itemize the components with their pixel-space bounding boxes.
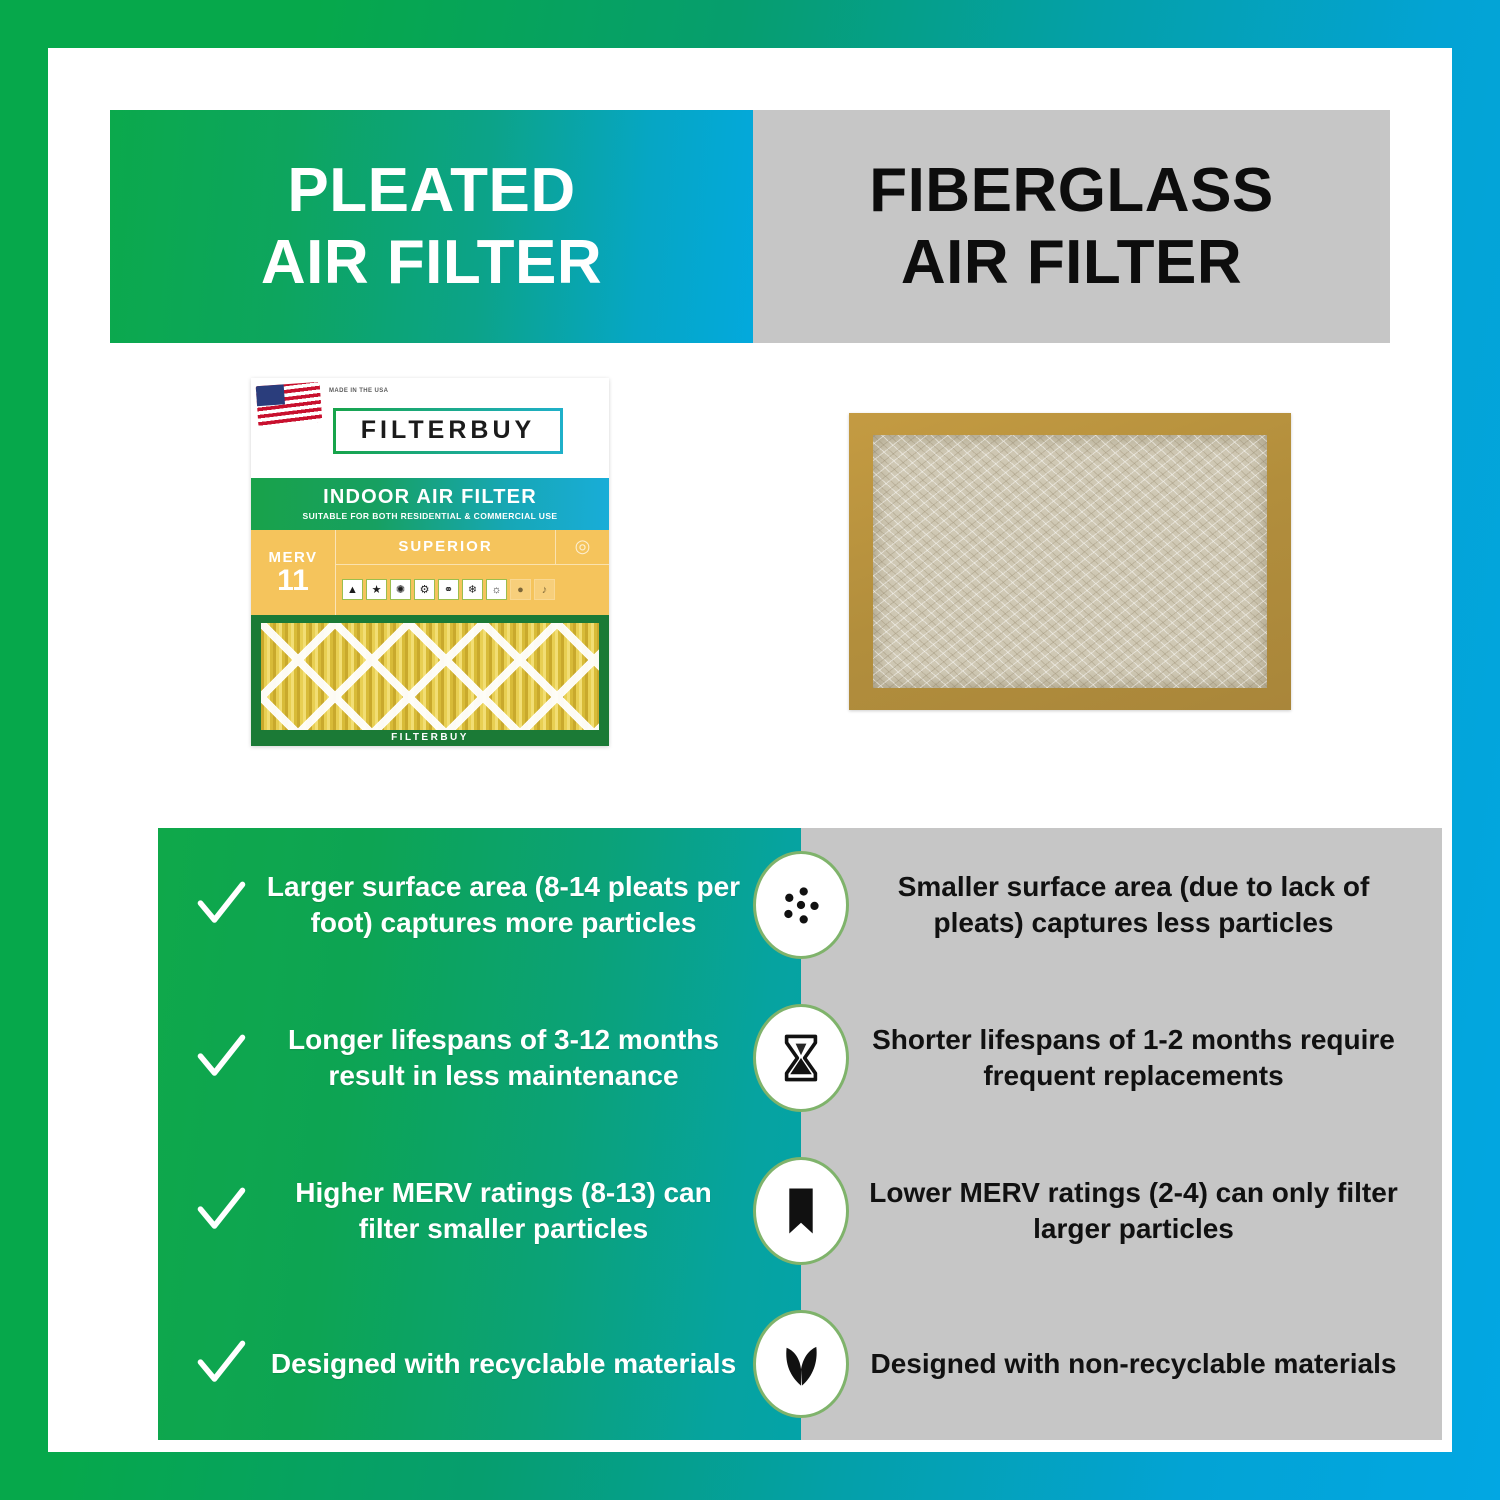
row-4-right: Designed with non-recyclable materials [801, 1287, 1442, 1440]
dust-icon: ▲ [342, 579, 363, 600]
particles-icon [753, 851, 849, 959]
mold-spores-icon: ⚙ [414, 579, 435, 600]
merv-details: SUPERIOR ◎ ▲ ★ ✺ ⚙ ⚭ ❄ ☼ ● ♪ [336, 530, 609, 615]
row-4-right-text: Designed with non-recyclable materials [871, 1346, 1397, 1381]
row-1-left-text: Larger surface area (8-14 pleats per foo… [262, 869, 745, 940]
dust-mites-icon: ★ [366, 579, 387, 600]
product-images-strip: MADE IN THE USA FILTERBUY INDOOR AIR FIL… [110, 343, 1390, 780]
header-pleated-title: PLEATED AIR FILTER [261, 155, 602, 299]
comparison-panel: Larger surface area (8-14 pleats per foo… [158, 828, 1442, 1440]
filterbuy-logo: FILTERBUY [333, 408, 563, 454]
pleated-product-cell: MADE IN THE USA FILTERBUY INDOOR AIR FIL… [110, 343, 750, 780]
row-1-right-text: Smaller surface area (due to lack of ple… [865, 869, 1402, 940]
pleated-media-area: FILTERBUY [251, 615, 609, 746]
comparison-row: Higher MERV ratings (8-13) can filter sm… [158, 1134, 1442, 1287]
row-3-right-text: Lower MERV ratings (2-4) can only filter… [865, 1175, 1402, 1246]
indoor-air-filter-title: INDOOR AIR FILTER [323, 486, 537, 509]
pet-dander-icon: ❄ [462, 579, 483, 600]
row-1-right: Smaller surface area (due to lack of ple… [801, 828, 1442, 981]
row-3-right: Lower MERV ratings (2-4) can only filter… [801, 1134, 1442, 1287]
merv-value: 11 [277, 566, 309, 596]
checkmark-icon [190, 1180, 252, 1242]
pleat-texture [261, 623, 599, 730]
header-pleated-line1: PLEATED [261, 155, 602, 227]
pleated-footer-brand: FILTERBUY [251, 732, 609, 746]
smoke-icon: ☼ [486, 579, 507, 600]
row-3-left: Higher MERV ratings (8-13) can filter sm… [158, 1134, 801, 1287]
infographic-frame: PLEATED AIR FILTER FIBERGLASS AIR FILTER… [48, 48, 1452, 1452]
hourglass-icon [753, 1004, 849, 1112]
checkmark-icon [190, 874, 252, 936]
row-1-left: Larger surface area (8-14 pleats per foo… [158, 828, 801, 981]
header-fiberglass: FIBERGLASS AIR FILTER [753, 110, 1390, 343]
pleated-label-top: MADE IN THE USA FILTERBUY [251, 378, 609, 478]
checkmark-icon [190, 1027, 252, 1089]
fiberglass-media-texture [873, 435, 1267, 688]
comparison-row: Larger surface area (8-14 pleats per foo… [158, 828, 1442, 981]
grade-row: SUPERIOR ◎ [336, 530, 609, 565]
row-2-left: Longer lifespans of 3-12 months result i… [158, 981, 801, 1134]
indoor-air-filter-band: INDOOR AIR FILTER SUITABLE FOR BOTH RESI… [251, 478, 609, 530]
comparison-rows: Larger surface area (8-14 pleats per foo… [158, 828, 1442, 1440]
row-2-right-text: Shorter lifespans of 1-2 months require … [865, 1022, 1402, 1093]
header-pleated: PLEATED AIR FILTER [110, 110, 753, 343]
us-flag-icon [256, 381, 323, 425]
fiberglass-filter-image [849, 413, 1291, 710]
comparison-row: Longer lifespans of 3-12 months result i… [158, 981, 1442, 1134]
made-in-usa-text: MADE IN THE USA [329, 387, 388, 395]
merv-section: MERV 11 SUPERIOR ◎ ▲ ★ ✺ ⚙ ⚭ [251, 530, 609, 615]
grade-label: SUPERIOR [336, 538, 555, 555]
virus-icon-disabled: ● [510, 579, 531, 600]
row-3-left-text: Higher MERV ratings (8-13) can filter sm… [262, 1175, 745, 1246]
filterbuy-logo-text: FILTERBUY [361, 416, 535, 445]
merv-badge: MERV 11 [251, 530, 336, 615]
bacteria-icon: ⚭ [438, 579, 459, 600]
row-4-left: Designed with recyclable materials [158, 1287, 801, 1440]
row-2-left-text: Longer lifespans of 3-12 months result i… [262, 1022, 745, 1093]
header-band: PLEATED AIR FILTER FIBERGLASS AIR FILTER [110, 110, 1390, 343]
indoor-air-filter-subtitle: SUITABLE FOR BOTH RESIDENTIAL & COMMERCI… [303, 511, 558, 521]
comparison-row: Designed with recyclable materials Desig… [158, 1287, 1442, 1440]
ul-certification-icon: ◎ [555, 530, 609, 564]
leaf-recycle-icon [753, 1310, 849, 1418]
header-fiberglass-line2: AIR FILTER [869, 227, 1274, 299]
feature-icons-row: ▲ ★ ✺ ⚙ ⚭ ❄ ☼ ● ♪ [336, 565, 609, 615]
odor-icon-disabled: ♪ [534, 579, 555, 600]
header-pleated-line2: AIR FILTER [261, 227, 602, 299]
row-2-right: Shorter lifespans of 1-2 months require … [801, 981, 1442, 1134]
bookmark-icon [753, 1157, 849, 1265]
pollen-icon: ✺ [390, 579, 411, 600]
header-fiberglass-title: FIBERGLASS AIR FILTER [869, 155, 1274, 299]
pleated-filter-image: MADE IN THE USA FILTERBUY INDOOR AIR FIL… [251, 378, 609, 746]
merv-label: MERV [268, 549, 317, 566]
row-4-left-text: Designed with recyclable materials [262, 1346, 745, 1381]
checkmark-icon [190, 1333, 252, 1395]
header-fiberglass-line1: FIBERGLASS [869, 155, 1274, 227]
fiberglass-product-cell [750, 343, 1390, 780]
